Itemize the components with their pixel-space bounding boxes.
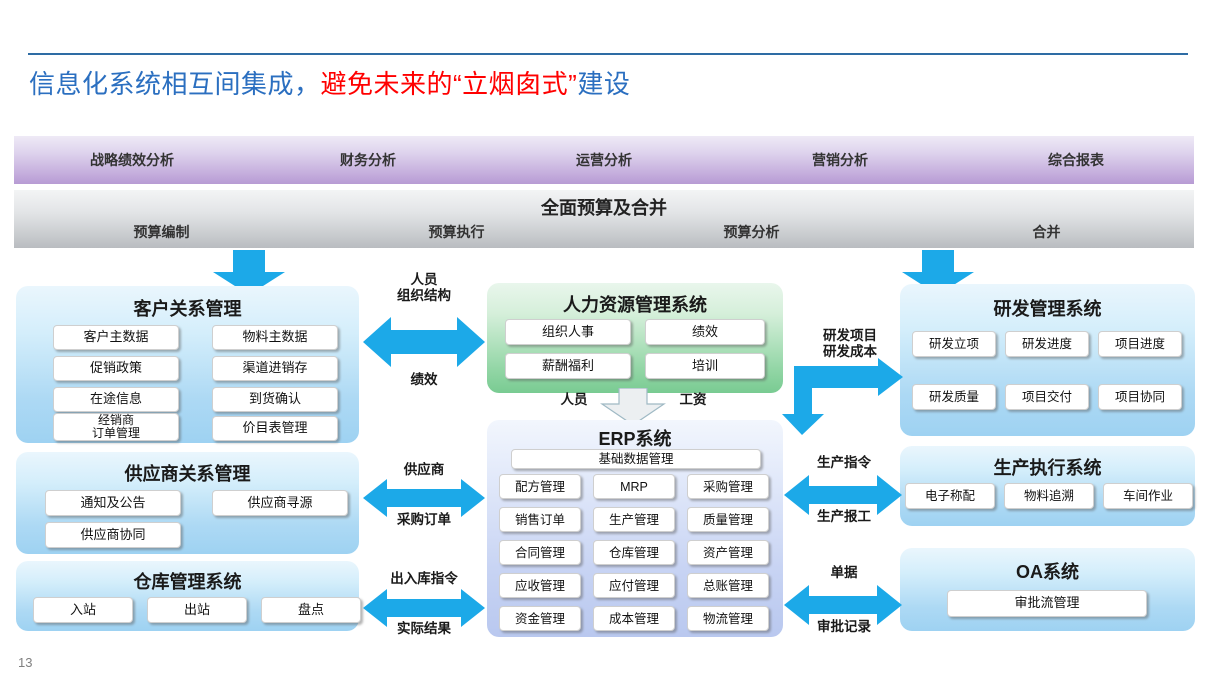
label-erp-oa-top: 单据 xyxy=(806,565,882,581)
rnd-chip-project-delivery[interactable]: 项目交付 xyxy=(1005,384,1089,410)
analysis-banner-item-4[interactable]: 综合报表 xyxy=(958,150,1194,170)
wms-chip-stocktake[interactable]: 盘点 xyxy=(261,597,361,623)
arrow-hr-rnd-bent xyxy=(782,358,904,436)
srm-chip-collaboration[interactable]: 供应商协同 xyxy=(45,522,181,548)
panel-erp-title: ERP系统 xyxy=(487,425,783,451)
erp-chip-funds[interactable]: 资金管理 xyxy=(499,606,581,631)
title-segment-red: 避免未来的“立烟囱式” xyxy=(321,69,578,99)
erp-chip-contract[interactable]: 合同管理 xyxy=(499,540,581,565)
mes-chip-electronic-weighing[interactable]: 电子称配 xyxy=(905,483,995,509)
budget-banner-title: 全面预算及合并 xyxy=(14,194,1194,220)
hr-chip-org-personnel[interactable]: 组织人事 xyxy=(505,319,631,345)
label-erp-mes-top: 生产指令 xyxy=(801,455,887,471)
budget-banner: 全面预算及合并 预算编制 预算执行 预算分析 合并 xyxy=(14,190,1194,248)
panel-oa-title: OA系统 xyxy=(900,558,1195,584)
panel-oa: OA系统 审批流管理 xyxy=(900,548,1195,631)
label-crm-hr-top: 人员 组织结构 xyxy=(378,272,470,303)
erp-chip-purchasing[interactable]: 采购管理 xyxy=(687,474,769,499)
budget-banner-item-0[interactable]: 预算编制 xyxy=(14,222,309,242)
erp-chip-asset[interactable]: 资产管理 xyxy=(687,540,769,565)
crm-chip-customer-master[interactable]: 客户主数据 xyxy=(53,325,179,350)
crm-chip-arrival-confirm[interactable]: 到货确认 xyxy=(212,387,338,412)
panel-erp: ERP系统 基础数据管理 配方管理 MRP 采购管理 销售订单 生产管理 质量管… xyxy=(487,420,783,637)
label-hr-erp-personnel: 人员 xyxy=(544,392,604,408)
panel-wms: 仓库管理系统 入站 出站 盘点 xyxy=(16,561,359,631)
rnd-chip-rd-progress[interactable]: 研发进度 xyxy=(1005,331,1089,357)
erp-chip-warehouse[interactable]: 仓库管理 xyxy=(593,540,675,565)
hr-chip-performance[interactable]: 绩效 xyxy=(645,319,765,345)
erp-chip-receivable[interactable]: 应收管理 xyxy=(499,573,581,598)
panel-hr: 人力资源管理系统 组织人事 薪酬福利 绩效 培训 xyxy=(487,283,783,393)
erp-chip-cost[interactable]: 成本管理 xyxy=(593,606,675,631)
analysis-banner-item-1[interactable]: 财务分析 xyxy=(250,150,486,170)
analysis-banner-item-0[interactable]: 战略绩效分析 xyxy=(14,150,250,170)
budget-banner-item-2[interactable]: 预算分析 xyxy=(604,222,899,242)
erp-chip-formula[interactable]: 配方管理 xyxy=(499,474,581,499)
panel-wms-title: 仓库管理系统 xyxy=(16,568,359,594)
erp-chip-master-data[interactable]: 基础数据管理 xyxy=(511,449,761,469)
crm-chip-in-transit[interactable]: 在途信息 xyxy=(53,387,179,412)
rnd-chip-rd-quality[interactable]: 研发质量 xyxy=(912,384,996,410)
analysis-banner-item-2[interactable]: 运营分析 xyxy=(486,150,722,170)
analysis-banner: 战略绩效分析 财务分析 运营分析 营销分析 综合报表 xyxy=(14,136,1194,184)
title-segment-1: 信息化系统相互间集成， xyxy=(29,69,321,99)
srm-chip-notice[interactable]: 通知及公告 xyxy=(45,490,181,516)
erp-chip-general-ledger[interactable]: 总账管理 xyxy=(687,573,769,598)
crm-chip-channel-inventory[interactable]: 渠道进销存 xyxy=(212,356,338,381)
srm-chip-sourcing[interactable]: 供应商寻源 xyxy=(212,490,348,516)
erp-chip-mrp[interactable]: MRP xyxy=(593,474,675,499)
erp-chip-payable[interactable]: 应付管理 xyxy=(593,573,675,598)
erp-chip-sales-order[interactable]: 销售订单 xyxy=(499,507,581,532)
mes-chip-shopfloor-ops[interactable]: 车间作业 xyxy=(1103,483,1193,509)
oa-chip-approval-flow[interactable]: 审批流管理 xyxy=(947,590,1147,617)
wms-chip-outbound[interactable]: 出站 xyxy=(147,597,247,623)
rnd-chip-project-setup[interactable]: 研发立项 xyxy=(912,331,996,357)
label-srm-erp-bottom: 采购订单 xyxy=(378,512,470,528)
label-wms-erp-top: 出入库指令 xyxy=(372,571,476,587)
budget-banner-item-1[interactable]: 预算执行 xyxy=(309,222,604,242)
label-hr-erp-salary: 工资 xyxy=(663,392,723,408)
panel-rnd-title: 研发管理系统 xyxy=(900,295,1195,321)
erp-chip-logistics[interactable]: 物流管理 xyxy=(687,606,769,631)
budget-banner-item-3[interactable]: 合并 xyxy=(899,222,1194,242)
page-number: 13 xyxy=(18,655,32,670)
panel-srm: 供应商关系管理 通知及公告 供应商协同 供应商寻源 xyxy=(16,452,359,554)
panel-rnd: 研发管理系统 研发立项 研发进度 项目进度 研发质量 项目交付 项目协同 xyxy=(900,284,1195,436)
wms-chip-inbound[interactable]: 入站 xyxy=(33,597,133,623)
label-erp-oa-bottom: 审批记录 xyxy=(801,619,887,635)
analysis-banner-item-3[interactable]: 营销分析 xyxy=(722,150,958,170)
crm-chip-promotion-policy[interactable]: 促销政策 xyxy=(53,356,179,381)
hr-chip-compensation[interactable]: 薪酬福利 xyxy=(505,353,631,379)
arrow-crm-hr xyxy=(363,315,485,369)
label-hr-rnd: 研发项目 研发成本 xyxy=(803,328,897,359)
rnd-chip-project-progress[interactable]: 项目进度 xyxy=(1098,331,1182,357)
crm-chip-dealer-order[interactable]: 经销商 订单管理 xyxy=(53,413,179,441)
erp-chip-quality[interactable]: 质量管理 xyxy=(687,507,769,532)
label-wms-erp-bottom: 实际结果 xyxy=(376,621,472,637)
label-srm-erp-top: 供应商 xyxy=(381,462,467,478)
title-segment-3: 建设 xyxy=(577,69,630,99)
panel-crm-title: 客户关系管理 xyxy=(16,295,359,321)
page-title: 信息化系统相互间集成，避免未来的“立烟囱式”建设 xyxy=(29,64,630,101)
panel-mes: 生产执行系统 电子称配 物料追溯 车间作业 xyxy=(900,446,1195,526)
panel-srm-title: 供应商关系管理 xyxy=(16,460,359,486)
budget-banner-items: 预算编制 预算执行 预算分析 合并 xyxy=(14,220,1194,244)
panel-crm: 客户关系管理 客户主数据 促销政策 在途信息 经销商 订单管理 物料主数据 渠道… xyxy=(16,286,359,443)
label-erp-mes-bottom: 生产报工 xyxy=(801,509,887,525)
mes-chip-material-traceability[interactable]: 物料追溯 xyxy=(1004,483,1094,509)
slide-canvas: 信息化系统相互间集成，避免未来的“立烟囱式”建设 战略绩效分析 财务分析 运营分… xyxy=(0,0,1209,680)
panel-hr-title: 人力资源管理系统 xyxy=(487,291,783,317)
panel-mes-title: 生产执行系统 xyxy=(900,454,1195,480)
hr-chip-training[interactable]: 培训 xyxy=(645,353,765,379)
title-divider xyxy=(28,53,1188,55)
crm-chip-price-list[interactable]: 价目表管理 xyxy=(212,416,338,441)
rnd-chip-project-collab[interactable]: 项目协同 xyxy=(1098,384,1182,410)
label-crm-hr-bottom: 绩效 xyxy=(385,372,463,388)
erp-chip-production[interactable]: 生产管理 xyxy=(593,507,675,532)
crm-chip-material-master[interactable]: 物料主数据 xyxy=(212,325,338,350)
